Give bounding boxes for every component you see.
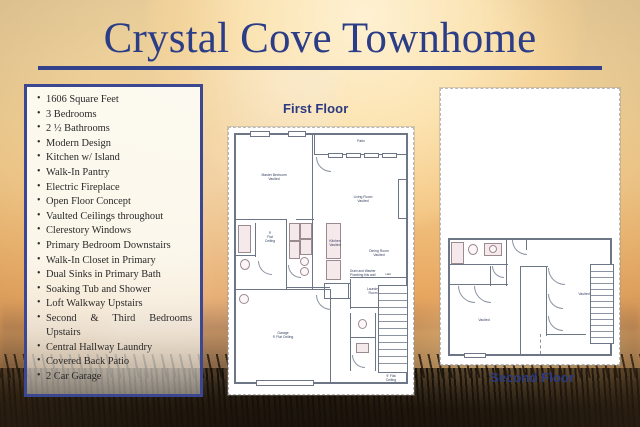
toilet-icon <box>468 244 478 255</box>
window-icon <box>364 153 379 158</box>
door-swing-closet3b <box>548 316 563 331</box>
vanity-icon <box>289 223 300 241</box>
first-floor-plan: Master Bedroom Vaulted Patio Living Room… <box>228 127 414 395</box>
door-swing-closet3 <box>548 294 563 309</box>
wall-bath-right <box>506 238 507 266</box>
list-item: 2 ½ Bathrooms <box>46 122 196 136</box>
room-label-living: Living Room Vaulted <box>338 195 388 204</box>
kitchen-island-icon <box>326 260 341 280</box>
list-item: Walk-In Closet in Primary <box>46 254 196 268</box>
list-item: 3 Bedrooms <box>46 108 196 122</box>
list-item: Central Hallway Laundry <box>46 341 196 355</box>
title-underline <box>38 66 602 70</box>
wall-laundry-left <box>350 279 351 309</box>
tub-icon <box>451 242 464 264</box>
list-item: Modern Design <box>46 137 196 151</box>
wall-garage-top <box>234 289 330 290</box>
room-label-bath-ceiling: 9' Flat Ceiling <box>258 231 282 243</box>
wall-linen-right <box>506 266 507 286</box>
door-swing-bath <box>258 261 272 275</box>
features-list: 1606 Square Feet 3 Bedrooms 2 ½ Bathroom… <box>33 93 196 384</box>
wall-patio-left <box>314 133 315 155</box>
wall-plumbing <box>350 277 408 278</box>
list-item: Loft Walkway Upstairs <box>46 297 196 311</box>
wall-bed2-right <box>520 266 521 354</box>
sink-icon <box>356 343 369 353</box>
window-icon <box>464 353 486 358</box>
water-heater-icon <box>239 294 249 304</box>
loft-railing <box>540 334 542 354</box>
list-item: Walk-In Pantry <box>46 166 196 180</box>
fireplace-icon <box>398 179 407 219</box>
room-label-patio: Patio <box>336 139 386 143</box>
page-title: Crystal Cove Townhome <box>0 14 640 64</box>
door-swing-hall <box>512 240 527 255</box>
door-swing-closet2 <box>474 286 491 303</box>
wall-hall-right <box>312 221 313 289</box>
wall-hall-left <box>286 219 287 289</box>
wall-bath-right <box>255 223 256 257</box>
vanity-icon <box>289 241 300 259</box>
door-swing-patio <box>316 157 331 172</box>
toilet-icon <box>358 319 367 329</box>
wall-exterior-left <box>448 238 450 356</box>
garage-door-icon <box>256 380 314 386</box>
features-panel: 1606 Square Feet 3 Bedrooms 2 ½ Bathroom… <box>24 84 203 397</box>
wall-linen-bottom <box>490 284 508 285</box>
window-icon <box>250 131 270 137</box>
list-item: Vaulted Ceilings throughout <box>46 210 196 224</box>
list-item: Clerestory Windows <box>46 224 196 238</box>
door-swing-bed2 <box>458 286 475 303</box>
list-item: Soaking Tub and Shower <box>46 283 196 297</box>
window-icon <box>288 131 306 137</box>
wall-master-bottom <box>234 219 286 220</box>
wall-powder-right <box>375 313 376 371</box>
room-label-bedroom2: Vaulted <box>466 318 502 322</box>
first-floor-label: First Floor <box>283 101 348 116</box>
list-item: Kitchen w/ Island <box>46 151 196 165</box>
list-item: Primary Bedroom Downstairs <box>46 239 196 253</box>
wall-hall-top <box>520 266 548 267</box>
sink-icon <box>300 257 309 266</box>
window-icon <box>346 153 361 158</box>
toilet-icon <box>240 259 250 270</box>
list-item: 1606 Square Feet <box>46 93 196 107</box>
wall-bed3-bottom <box>546 334 586 335</box>
room-label-hall: Hall <box>370 272 406 276</box>
staircase-icon <box>378 285 408 373</box>
room-label-dining: Dining Room Vaulted <box>356 249 402 258</box>
list-item: Dual Sinks in Primary Bath <box>46 268 196 282</box>
wall-linen-left <box>490 266 491 286</box>
door-swing-closet <box>288 265 301 278</box>
wall-exterior-top <box>448 238 612 240</box>
sink-icon <box>300 267 309 276</box>
door-swing-bed3 <box>548 268 565 285</box>
closet-shelf-icon <box>300 239 312 255</box>
tub-icon <box>238 225 251 253</box>
door-swing-bath <box>492 266 504 278</box>
page-title-text: Crystal Cove Townhome <box>0 14 640 64</box>
wall-bed3-left <box>546 266 547 336</box>
staircase-icon <box>590 264 614 344</box>
sink-icon <box>489 245 497 253</box>
room-label-closet-ceiling: 9' Flat Ceiling <box>376 374 406 382</box>
wall-bath <box>234 255 256 256</box>
list-item: Electric Fireplace <box>46 181 196 195</box>
wall-kitchen-bottom <box>324 283 350 284</box>
flyer-canvas: Crystal Cove Townhome 1606 Square Feet 3… <box>0 0 640 427</box>
second-floor-plan: Vaulted Vaulted <box>440 88 620 365</box>
list-item: Open Floor Concept <box>46 195 196 209</box>
wall-exterior-left <box>234 133 236 383</box>
list-item: Second & Third Bedrooms Upstairs <box>46 312 196 340</box>
list-item: 2 Car Garage <box>46 370 196 384</box>
window-icon <box>382 153 397 158</box>
second-floor-label: Second Floor <box>490 370 574 385</box>
wall-powder-left <box>350 313 351 371</box>
list-item: Covered Back Patio <box>46 355 196 369</box>
room-label-kitchen: Kitchen Vaulted <box>322 239 348 248</box>
closet-shelf-icon <box>300 223 312 239</box>
door-swing-garage <box>316 295 331 310</box>
door-swing-powder <box>352 355 365 368</box>
room-label-garage: Garage 9' Flat Ceiling <box>258 331 308 340</box>
room-label-master: Master Bedroom Vaulted <box>242 173 306 182</box>
wall-powder-mid <box>350 337 376 338</box>
